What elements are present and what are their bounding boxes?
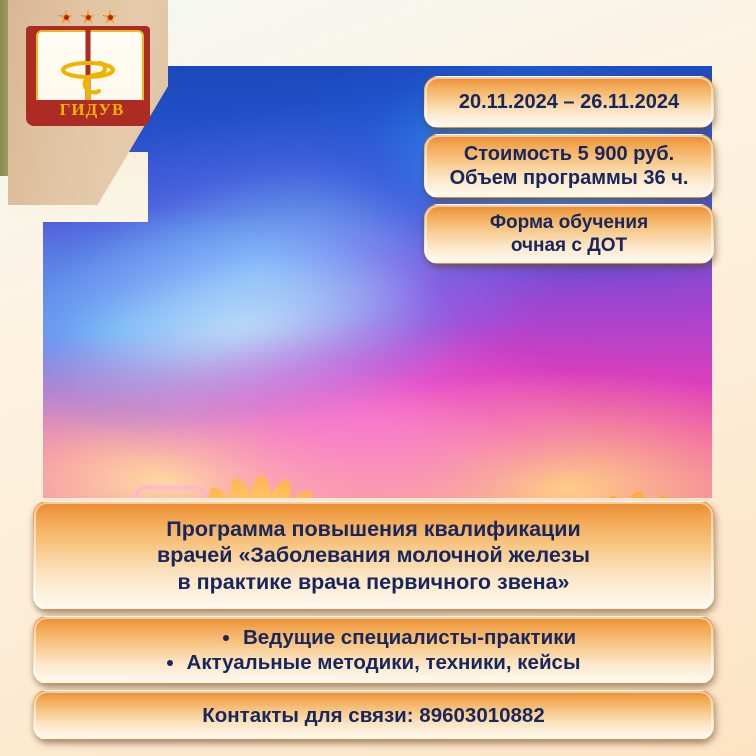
- program-title-line-2: врачей «Заболевания молочной железы: [157, 542, 590, 568]
- contacts-panel[interactable]: Контакты для связи: 89603010882: [33, 690, 714, 740]
- highlight-text-2: Актуальные методики, техники, кейсы: [187, 650, 581, 675]
- chip-price-volume: Стоимость 5 900 руб. Объем программы 36 …: [424, 134, 714, 198]
- program-title-line-3: в практике врача первичного звена»: [177, 569, 569, 595]
- highlight-text-1: Ведущие специалисты-практики: [243, 625, 576, 650]
- logo-wordmark: ГИДУВ: [30, 100, 154, 120]
- chip-format-line-2: очная с ДОТ: [511, 234, 627, 257]
- star-icon: [81, 10, 96, 25]
- promo-poster: ГИДУВ 20.11.2024 – 26.11.2024 Стоимость …: [0, 0, 756, 756]
- chip-dates-line-1: 20.11.2024 – 26.11.2024: [459, 90, 679, 114]
- chip-price-line-1: Стоимость 5 900 руб.: [464, 142, 674, 166]
- bullet-dot-icon: [167, 660, 173, 666]
- chip-dates: 20.11.2024 – 26.11.2024: [424, 76, 714, 128]
- institution-logo: ГИДУВ: [20, 8, 156, 132]
- book-band: ГИДУВ: [30, 100, 146, 124]
- contacts-text: Контакты для связи: 89603010882: [202, 703, 544, 728]
- bullet-dot-icon: [223, 635, 229, 641]
- flower-left-icon: [163, 458, 353, 498]
- list-item: Актуальные методики, техники, кейсы: [167, 650, 581, 675]
- chip-price-line-2: Объем программы 36 ч.: [450, 166, 689, 190]
- chip-study-form: Форма обучения очная с ДОТ: [424, 204, 714, 264]
- star-icon: [103, 10, 118, 25]
- star-icon: [59, 10, 74, 25]
- list-item: Ведущие специалисты-практики: [171, 625, 576, 650]
- open-book-icon: ГИДУВ: [26, 26, 150, 126]
- chip-format-line-1: Форма обучения: [490, 211, 648, 234]
- program-title-panel: Программа повышения квалификации врачей …: [33, 501, 714, 610]
- highlights-panel: Ведущие специалисты-практики Актуальные …: [33, 616, 714, 684]
- program-title-line-1: Программа повышения квалификации: [166, 516, 580, 542]
